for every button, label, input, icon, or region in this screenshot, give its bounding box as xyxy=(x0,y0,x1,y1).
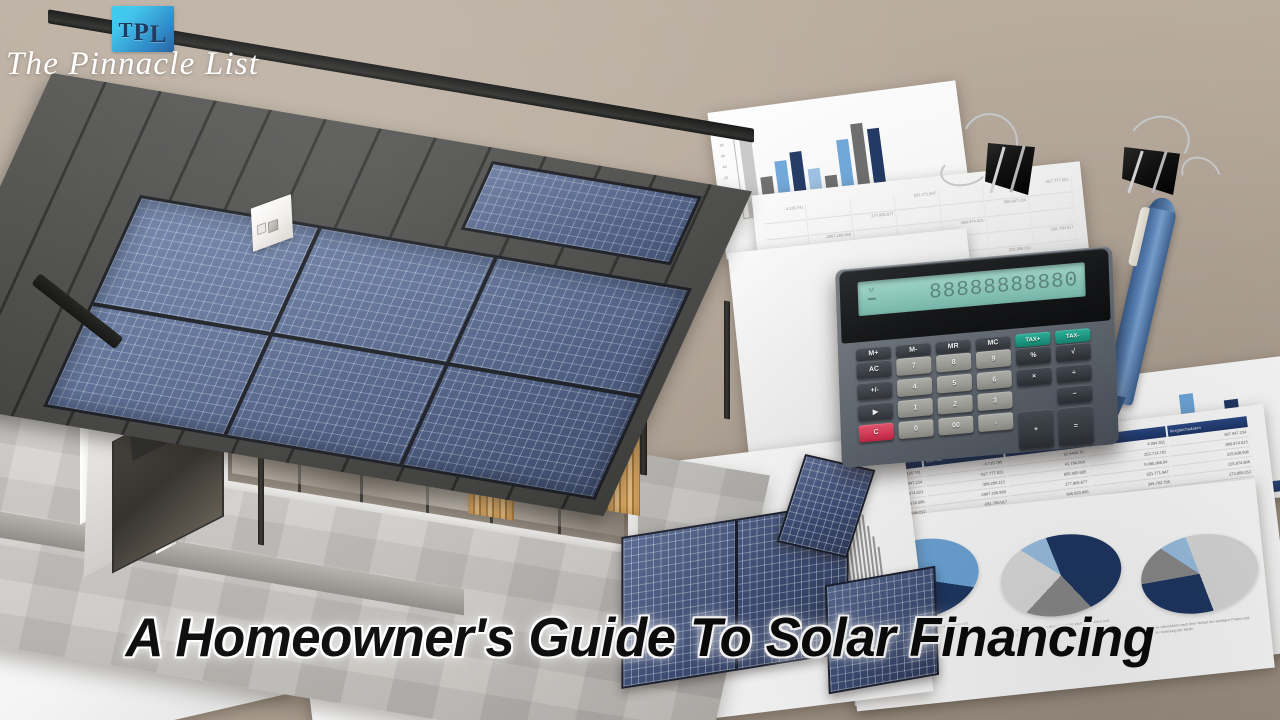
vent-grille-icon xyxy=(268,219,279,233)
calculator-key-9[interactable]: 9 xyxy=(976,349,1011,369)
page-title: A Homeowner's Guide To Solar Financing xyxy=(26,610,1255,665)
lcd-digits: 88888888880 xyxy=(929,269,1079,303)
calculator-key-right[interactable]: ▶ xyxy=(858,402,893,422)
vent-panel-icon xyxy=(257,222,267,235)
calculator-key-3[interactable]: 3 xyxy=(977,391,1012,411)
calculator-key-2[interactable]: 2 xyxy=(937,395,972,415)
calculator-key-subtract[interactable]: − xyxy=(1057,384,1092,404)
calculator-key-multiply[interactable]: × xyxy=(1016,367,1051,387)
desk-calculator[interactable]: M 88888888880 M+M-MRMCTAX+TAX-AC789%√+/-… xyxy=(835,246,1119,468)
calculator-key-sqrt[interactable]: √ xyxy=(1056,342,1091,362)
calculator-key-divide[interactable]: ÷ xyxy=(1056,363,1091,383)
lcd-minus-sign xyxy=(868,298,876,301)
calculator-key-0[interactable]: 0 xyxy=(898,419,933,439)
calculator-key-ac[interactable]: AC xyxy=(856,359,891,379)
article-hero-image: 100806040200 VolksoperSperrsatFinanziert… xyxy=(0,0,1280,720)
calculator-key-6[interactable]: 6 xyxy=(977,370,1012,390)
calculator-key-plus[interactable]: + xyxy=(1018,409,1054,450)
calculator-key-4[interactable]: 4 xyxy=(897,377,932,397)
calculator-key-1[interactable]: 1 xyxy=(898,398,933,418)
calculator-key-00[interactable]: 00 xyxy=(938,416,973,436)
calculator-key-5[interactable]: 5 xyxy=(937,374,972,394)
calculator-key-8[interactable]: 8 xyxy=(936,353,971,373)
calculator-key-percent[interactable]: % xyxy=(1016,346,1051,366)
calculator-key-point[interactable]: . xyxy=(978,412,1013,432)
brand-name: The Pinnacle List xyxy=(6,46,306,83)
calculator-keypad[interactable]: M+M-MRMCTAX+TAX-AC789%√+/-456×÷▶123−C000… xyxy=(856,327,1105,459)
house-column xyxy=(724,301,730,420)
calculator-key-7[interactable]: 7 xyxy=(896,356,931,376)
lcd-memory-indicator: M xyxy=(869,288,874,294)
calculator-key-plus/minus[interactable]: +/- xyxy=(857,381,892,401)
calculator-key-c[interactable]: C xyxy=(858,423,893,443)
brand-logo[interactable]: TPL The Pinnacle List xyxy=(0,0,310,92)
logo-letters: TPL xyxy=(119,17,168,42)
calculator-key-equals[interactable]: = xyxy=(1058,405,1094,446)
